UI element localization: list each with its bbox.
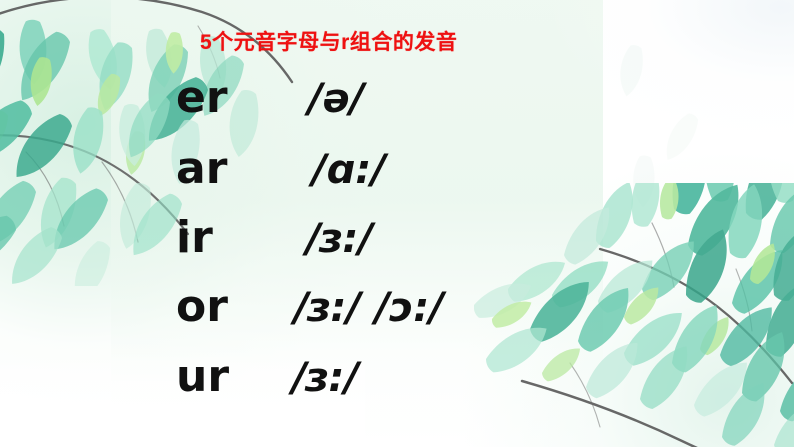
letter-combination: er xyxy=(176,76,316,120)
slide-canvas: 5个元音字母与r组合的发音 er /ə/ ar /ɑ:/ ir /ɜ:/ or … xyxy=(0,0,794,447)
phonetic-transcription: /ɜ:/ /ɔ:/ xyxy=(294,288,444,328)
list-item: ar /ɑ:/ xyxy=(176,147,386,191)
phonetic-transcription: /ɑ:/ xyxy=(312,150,386,190)
list-item: er /ə/ xyxy=(176,76,364,120)
list-item: ir /ɜ:/ xyxy=(176,216,373,260)
list-item: or /ɜ:/ /ɔ:/ xyxy=(176,285,444,329)
list-item: ur /ɜ:/ xyxy=(176,355,359,399)
phonics-list: er /ə/ ar /ɑ:/ ir /ɜ:/ or /ɜ:/ /ɔ:/ ur /… xyxy=(0,0,794,447)
phonetic-transcription: /ə/ xyxy=(308,79,364,119)
letter-combination: ir xyxy=(176,216,316,260)
letter-combination: ar xyxy=(176,147,316,191)
phonetic-transcription: /ɜ:/ xyxy=(292,358,359,398)
phonetic-transcription: /ɜ:/ xyxy=(306,219,373,259)
